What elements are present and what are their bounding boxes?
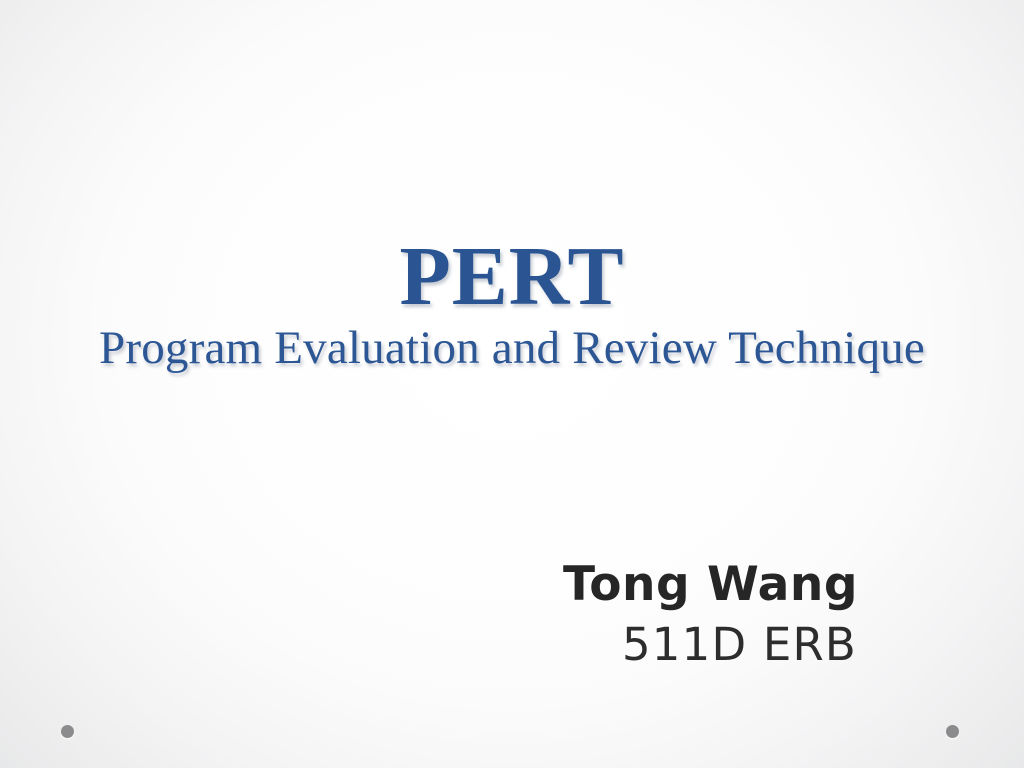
page-title: PERT [0, 236, 1024, 318]
title-block: PERT Program Evaluation and Review Techn… [0, 236, 1024, 374]
bottom-right-dot-icon [946, 725, 959, 738]
author-name: Tong Wang [0, 560, 858, 611]
bottom-left-dot-icon [61, 725, 74, 738]
page-subtitle: Program Evaluation and Review Technique [0, 324, 1024, 373]
author-room-label: 511D ERB [0, 621, 858, 670]
presentation-slide: PERT Program Evaluation and Review Techn… [0, 0, 1024, 768]
author-block: Tong Wang 511D ERB [0, 560, 1024, 669]
